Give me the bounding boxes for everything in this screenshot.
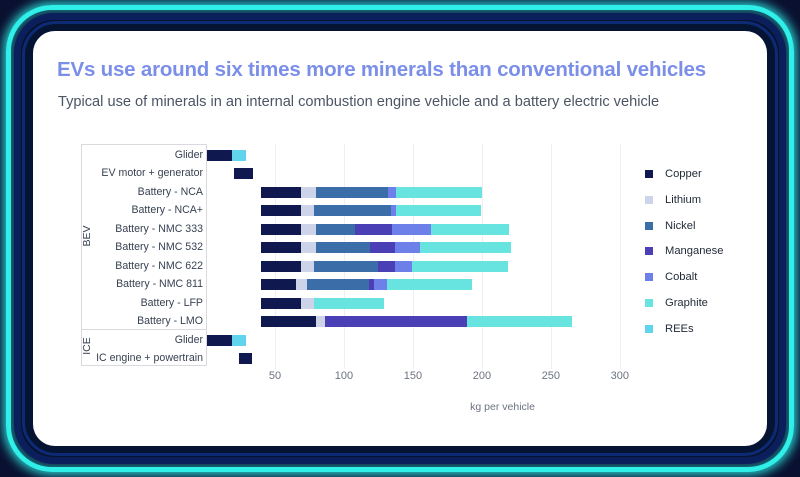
legend-label: Nickel bbox=[665, 217, 695, 235]
bar-segment-manganese[interactable] bbox=[378, 261, 395, 272]
bar-segment-copper[interactable] bbox=[261, 224, 301, 235]
bar-segment-lithium[interactable] bbox=[296, 279, 307, 290]
legend-label: Lithium bbox=[665, 191, 701, 209]
bar-segment-copper[interactable] bbox=[206, 150, 232, 161]
bar-segment-graphite[interactable] bbox=[314, 298, 384, 309]
group-box-bev bbox=[81, 144, 207, 330]
legend-item-nickel[interactable]: Nickel bbox=[645, 217, 765, 243]
bar-segment-cobalt[interactable] bbox=[374, 279, 386, 290]
bar-segment-cobalt[interactable] bbox=[392, 224, 431, 235]
bar-segment-cobalt[interactable] bbox=[395, 261, 412, 272]
bar-segment-lithium[interactable] bbox=[301, 187, 316, 198]
bar-segment-graphite[interactable] bbox=[467, 316, 572, 327]
bar-segment-lithium[interactable] bbox=[316, 316, 324, 327]
group-label-bev: BEV bbox=[81, 216, 93, 256]
bar-segment-rees[interactable] bbox=[232, 335, 246, 346]
bar-segment-lithium[interactable] bbox=[301, 205, 313, 216]
x-tick-label-300: 300 bbox=[600, 370, 640, 382]
bar-segment-lithium[interactable] bbox=[301, 298, 313, 309]
bar-segment-copper[interactable] bbox=[234, 168, 253, 179]
bar-segment-manganese[interactable] bbox=[370, 242, 395, 253]
legend-item-copper[interactable]: Copper bbox=[645, 165, 765, 191]
chart-card: EVs use around six times more minerals t… bbox=[33, 31, 767, 446]
legend-swatch-icon bbox=[645, 273, 653, 281]
bar-segment-copper[interactable] bbox=[261, 298, 301, 309]
legend-label: REEs bbox=[665, 320, 694, 338]
group-label-ice: ICE bbox=[81, 326, 93, 366]
bar-segment-copper[interactable] bbox=[261, 279, 295, 290]
screenshot-frame: EVs use around six times more minerals t… bbox=[0, 0, 800, 477]
bar-segment-manganese[interactable] bbox=[355, 224, 392, 235]
bar-segment-cobalt[interactable] bbox=[395, 242, 420, 253]
legend-swatch-icon bbox=[645, 299, 653, 307]
bar-segment-nickel[interactable] bbox=[314, 205, 391, 216]
legend-item-graphite[interactable]: Graphite bbox=[645, 294, 765, 320]
bar-segment-copper[interactable] bbox=[261, 261, 301, 272]
legend-label: Manganese bbox=[665, 242, 723, 260]
x-tick-label-100: 100 bbox=[324, 370, 364, 382]
bar-segment-copper[interactable] bbox=[261, 187, 301, 198]
x-tick-label-250: 250 bbox=[531, 370, 571, 382]
bar-segment-nickel[interactable] bbox=[316, 242, 370, 253]
bar-segment-lithium[interactable] bbox=[301, 242, 316, 253]
bar-segment-copper[interactable] bbox=[239, 353, 251, 364]
legend-item-cobalt[interactable]: Cobalt bbox=[645, 268, 765, 294]
x-tick-label-150: 150 bbox=[393, 370, 433, 382]
bar-segment-copper[interactable] bbox=[261, 242, 301, 253]
legend-item-manganese[interactable]: Manganese bbox=[645, 242, 765, 268]
legend-item-lithium[interactable]: Lithium bbox=[645, 191, 765, 217]
x-axis-title: kg per vehicle bbox=[443, 401, 563, 413]
bar-segment-graphite[interactable] bbox=[431, 224, 510, 235]
bar-segment-graphite[interactable] bbox=[396, 205, 480, 216]
legend-swatch-icon bbox=[645, 196, 653, 204]
x-tick-label-50: 50 bbox=[255, 370, 295, 382]
bar-segment-copper[interactable] bbox=[206, 335, 232, 346]
legend-swatch-icon bbox=[645, 247, 653, 255]
bar-segment-copper[interactable] bbox=[261, 316, 316, 327]
bar-segment-cobalt[interactable] bbox=[388, 187, 396, 198]
bar-segment-lithium[interactable] bbox=[301, 224, 316, 235]
legend-swatch-icon bbox=[645, 222, 653, 230]
bar-segment-graphite[interactable] bbox=[396, 187, 482, 198]
legend-item-rees[interactable]: REEs bbox=[645, 320, 765, 346]
legend-swatch-icon bbox=[645, 170, 653, 178]
bar-segment-nickel[interactable] bbox=[316, 187, 388, 198]
legend-label: Graphite bbox=[665, 294, 708, 312]
x-tick-label-200: 200 bbox=[462, 370, 502, 382]
bar-segment-graphite[interactable] bbox=[420, 242, 511, 253]
legend-label: Cobalt bbox=[665, 268, 697, 286]
bar-segment-rees[interactable] bbox=[232, 150, 246, 161]
chart-legend: CopperLithiumNickelManganeseCobaltGraphi… bbox=[645, 165, 765, 346]
bar-segment-nickel[interactable] bbox=[316, 224, 355, 235]
bar-segment-graphite[interactable] bbox=[412, 261, 509, 272]
legend-label: Copper bbox=[665, 165, 702, 183]
bar-segment-manganese[interactable] bbox=[325, 316, 467, 327]
bar-segment-nickel[interactable] bbox=[307, 279, 369, 290]
bar-segment-nickel[interactable] bbox=[314, 261, 379, 272]
group-box-ice bbox=[81, 329, 207, 367]
bar-segment-lithium[interactable] bbox=[301, 261, 313, 272]
bar-segment-copper[interactable] bbox=[261, 205, 301, 216]
bar-segment-graphite[interactable] bbox=[387, 279, 473, 290]
legend-swatch-icon bbox=[645, 325, 653, 333]
